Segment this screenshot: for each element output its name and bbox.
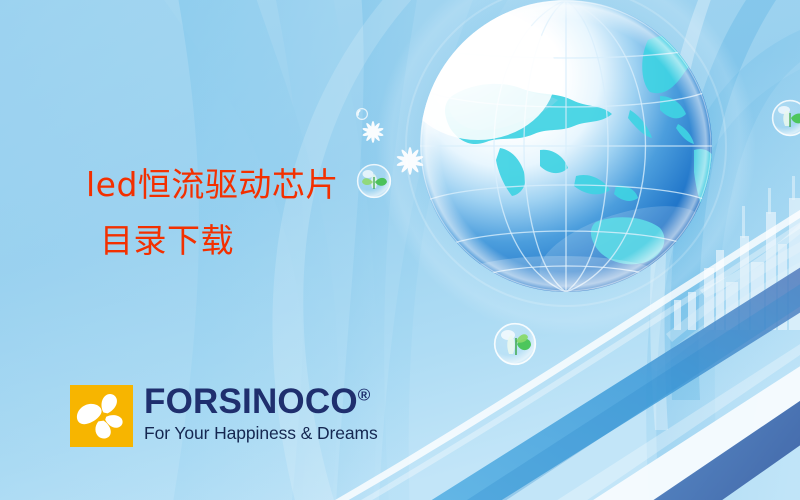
brand-logo: FORSINOCO® For Your Happiness & Dreams <box>70 385 378 447</box>
banner-canvas: led恒流驱动芯片 目录下载 <box>0 0 800 500</box>
logo-wordmark: FORSINOCO® For Your Happiness & Dreams <box>144 384 378 443</box>
brand-name: FORSINOCO® <box>144 384 378 419</box>
brand-name-text: FORSINOCO <box>144 382 358 421</box>
registered-trademark-icon: ® <box>358 385 371 404</box>
four-petal-flower-icon <box>70 385 133 447</box>
brand-tagline: For Your Happiness & Dreams <box>144 425 378 443</box>
